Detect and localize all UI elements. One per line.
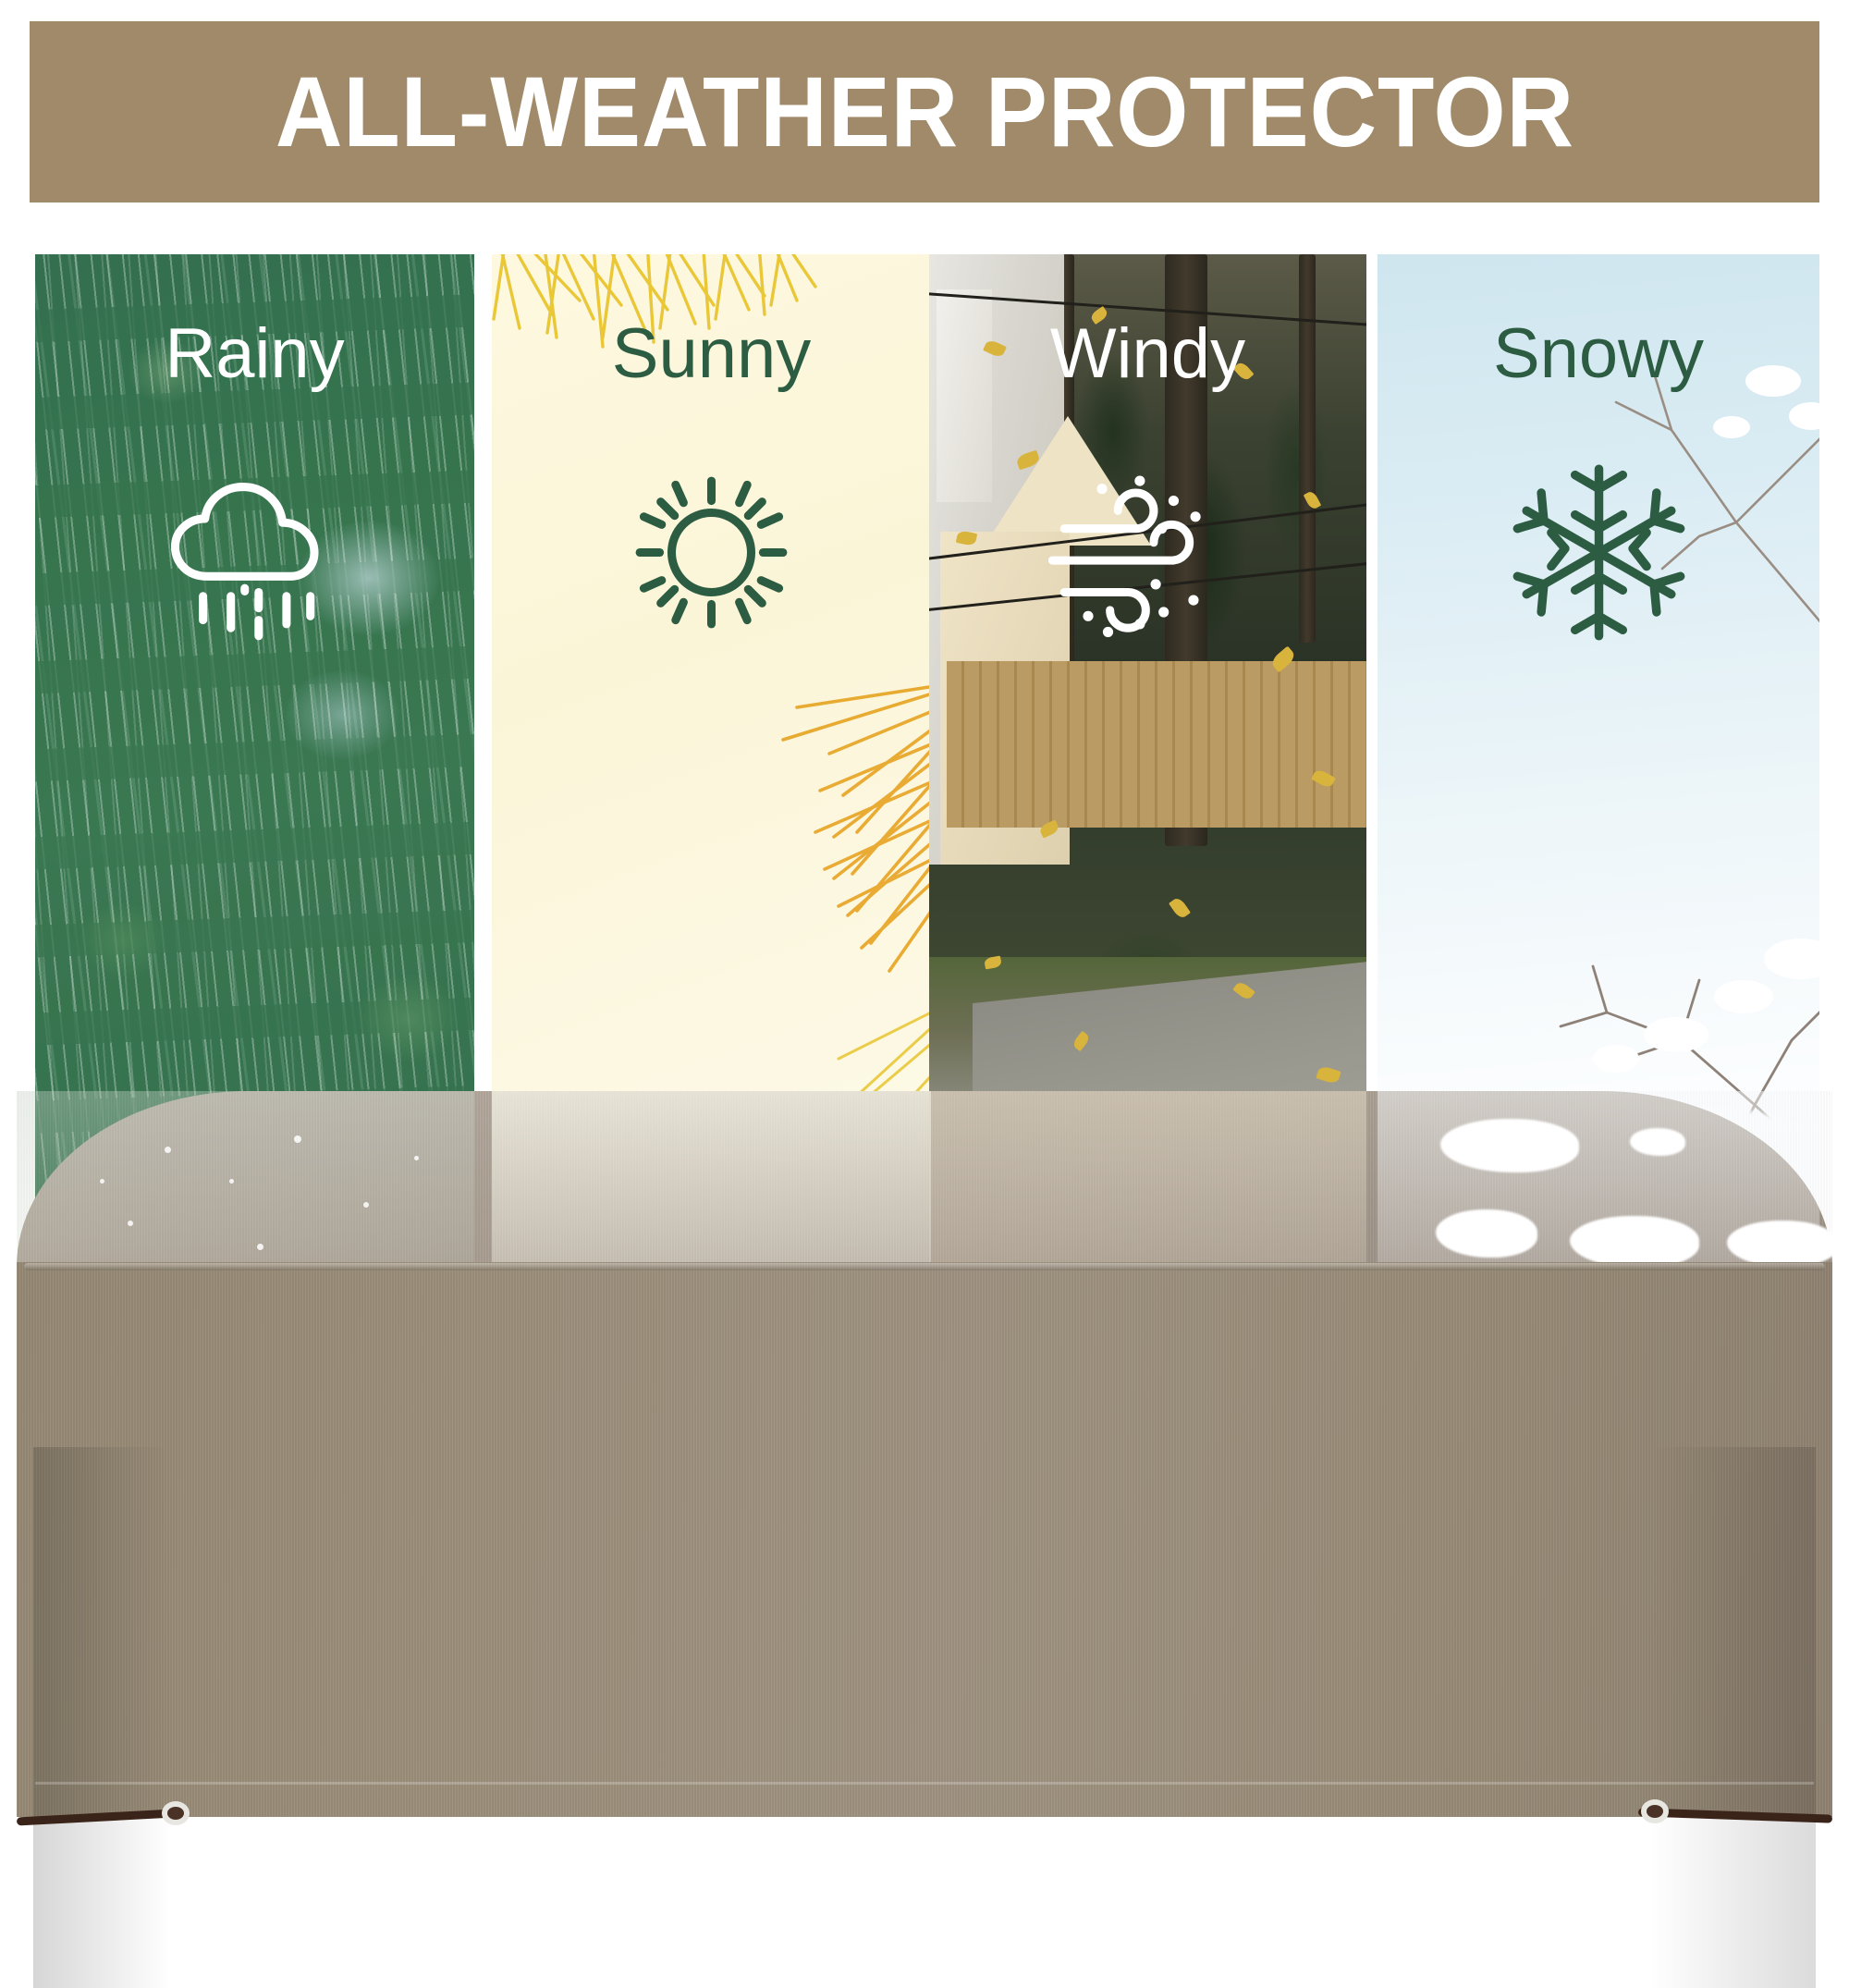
rain-cloud-icon <box>35 453 474 652</box>
panel-label-sunny: Sunny <box>492 319 931 389</box>
page-title: ALL-WEATHER PROTECTOR <box>275 62 1573 162</box>
wind-icon <box>929 453 1366 652</box>
grommet-eyelet-right <box>1641 1799 1669 1823</box>
blowing-leaves <box>929 254 1366 1234</box>
weather-panel-windy[interactable]: Windy <box>929 254 1366 1234</box>
weather-panel-snowy[interactable]: Snowy <box>1378 254 1819 1234</box>
cover-right-shading <box>1649 1447 1816 1988</box>
panel-label-windy: Windy <box>929 319 1366 389</box>
header-banner: ALL-WEATHER PROTECTOR <box>30 21 1819 202</box>
snowflake-icon <box>1378 453 1819 652</box>
grommet-eyelet-left <box>162 1801 190 1825</box>
cover-left-shading <box>33 1447 172 1988</box>
panel-label-snowy: Snowy <box>1378 319 1819 389</box>
sun-icon <box>492 453 931 652</box>
cover-front-panel <box>17 1262 1832 1817</box>
furniture-cover <box>0 1091 1849 1849</box>
palm-frond-bottom-right <box>672 670 931 976</box>
cover-fabric-texture <box>17 1262 1832 1817</box>
weather-panel-strip: Rainy <box>0 254 1849 1234</box>
cover-top-seam <box>24 1263 1825 1270</box>
weather-panel-sunny[interactable]: Sunny <box>492 254 931 1234</box>
panel-label-rainy: Rainy <box>35 319 474 389</box>
weather-panel-rainy[interactable]: Rainy <box>35 254 474 1234</box>
cover-hem-stitch <box>35 1782 1814 1785</box>
rain-streaks <box>35 254 474 1234</box>
